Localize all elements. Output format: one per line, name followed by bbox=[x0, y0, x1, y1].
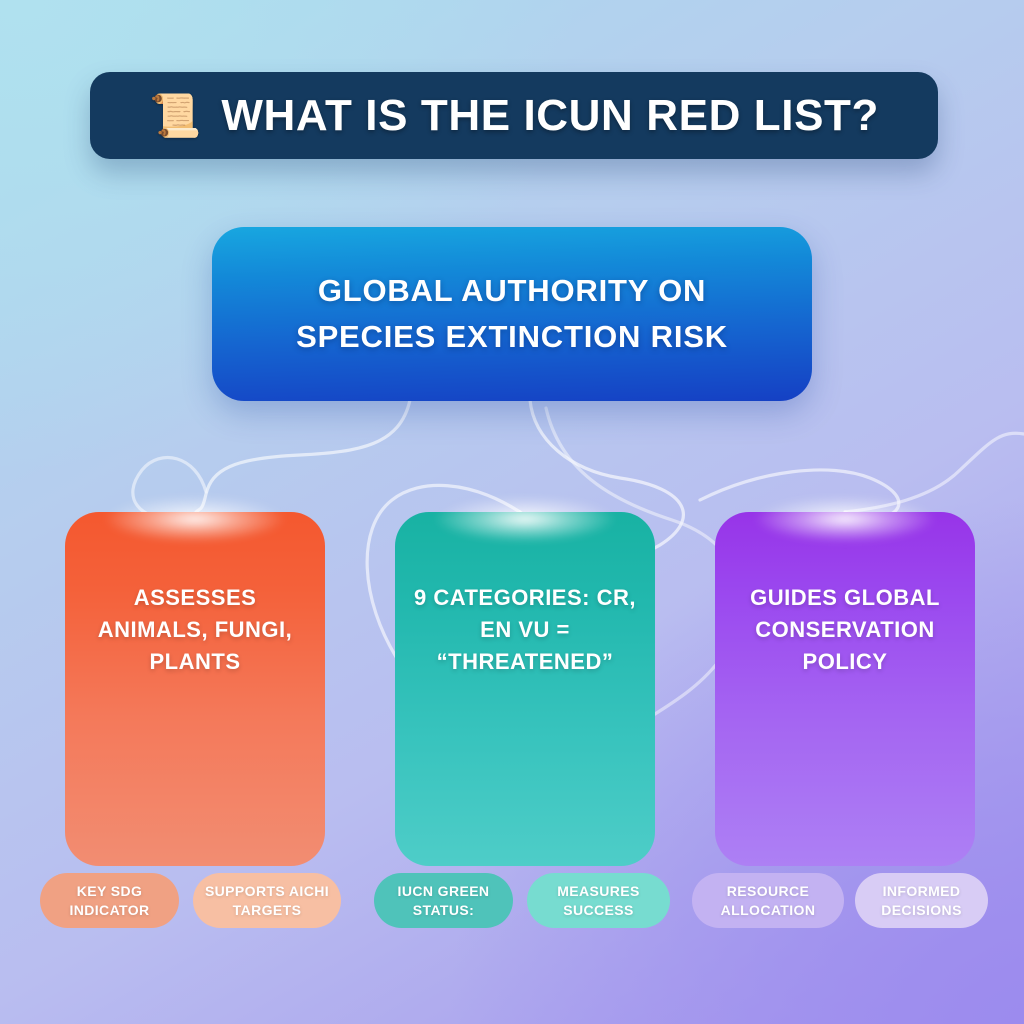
pill-informed-decisions[interactable]: INFORMED DECISIONS bbox=[855, 873, 988, 928]
card-top-glow bbox=[105, 496, 285, 542]
card-top-glow bbox=[755, 496, 935, 542]
pill-label: IUCN GREEN STATUS: bbox=[374, 882, 513, 920]
pill-measures-success[interactable]: MEASURES SUCCESS bbox=[527, 873, 670, 928]
feature-card-label: GUIDES GLOBAL CONSERVATION POLICY bbox=[715, 582, 975, 678]
main-statement-line-2: SPECIES EXTINCTION RISK bbox=[296, 314, 728, 361]
pill-label: MEASURES SUCCESS bbox=[527, 882, 670, 920]
pill-label: RESOURCE ALLOCATION bbox=[692, 882, 844, 920]
scroll-icon: 📜 bbox=[149, 95, 201, 137]
pill-label: KEY SDG INDICATOR bbox=[40, 882, 179, 920]
feature-card-label: 9 CATEGORIES: CR, EN VU = “THREATENED” bbox=[395, 582, 655, 678]
pill-label: INFORMED DECISIONS bbox=[855, 882, 988, 920]
pill-badge-group: KEY SDG INDICATOR SUPPORTS AICHI TARGETS… bbox=[0, 873, 1024, 931]
pill-iucn-green-status[interactable]: IUCN GREEN STATUS: bbox=[374, 873, 513, 928]
card-top-glow bbox=[435, 496, 615, 542]
page-title: WHAT IS THE ICUN RED LIST? bbox=[221, 91, 879, 141]
connector-path-right-outer bbox=[845, 433, 1024, 512]
connector-path-left bbox=[196, 400, 410, 512]
header-bar: 📜 WHAT IS THE ICUN RED LIST? bbox=[90, 72, 938, 159]
main-statement-line-1: GLOBAL AUTHORITY ON bbox=[318, 268, 706, 315]
feature-card-policy[interactable]: GUIDES GLOBAL CONSERVATION POLICY bbox=[715, 512, 975, 866]
connector-path-left-outer bbox=[133, 458, 206, 520]
pill-supports-aichi-targets[interactable]: SUPPORTS AICHI TARGETS bbox=[193, 873, 341, 928]
main-statement-card: GLOBAL AUTHORITY ON SPECIES EXTINCTION R… bbox=[212, 227, 812, 401]
pill-resource-allocation[interactable]: RESOURCE ALLOCATION bbox=[692, 873, 844, 928]
feature-card-categories[interactable]: 9 CATEGORIES: CR, EN VU = “THREATENED” bbox=[395, 512, 655, 866]
pill-key-sdg-indicator[interactable]: KEY SDG INDICATOR bbox=[40, 873, 179, 928]
pill-label: SUPPORTS AICHI TARGETS bbox=[193, 882, 341, 920]
feature-card-label: ASSESSES ANIMALS, FUNGI, PLANTS bbox=[65, 582, 325, 678]
feature-card-assesses[interactable]: ASSESSES ANIMALS, FUNGI, PLANTS bbox=[65, 512, 325, 866]
